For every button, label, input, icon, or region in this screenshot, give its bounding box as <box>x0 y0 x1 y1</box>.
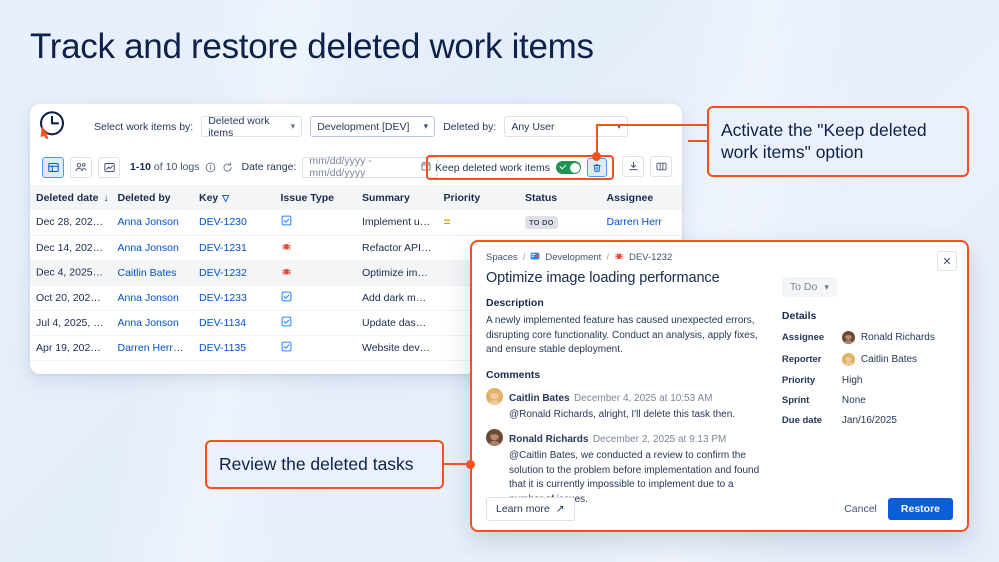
download-icon[interactable] <box>622 156 644 177</box>
detail-field: SprintNone <box>782 395 953 406</box>
col-label: Summary <box>362 192 410 204</box>
callout-review-dot <box>466 460 475 469</box>
detail-field: Due dateJan/16/2025 <box>782 415 953 426</box>
col-deleted-by[interactable]: Deleted by <box>112 185 194 210</box>
columns-icon[interactable] <box>650 156 672 177</box>
external-link-icon: ↗ <box>556 503 565 515</box>
callout-keep-dot <box>592 152 601 161</box>
col-deleted-date[interactable]: Deleted date↓ <box>30 185 112 210</box>
task-icon <box>281 318 292 330</box>
issue-detail-panel: Spaces / Development / DEV-1232 Optimize… <box>470 240 969 532</box>
cell-summary: Website developme <box>356 335 438 360</box>
callout-review-tasks: Review the deleted tasks <box>205 440 444 489</box>
bug-icon <box>614 251 624 264</box>
cell-deleted-date: Dec 4, 2025, 3:23 PM↶Restore <box>30 260 112 285</box>
comment-timestamp: December 4, 2025 at 10:53 AM <box>574 393 712 404</box>
deleted-by-value: Any User <box>511 121 554 133</box>
panel-footer: Learn more ↗ Cancel Restore <box>472 497 967 521</box>
deleted-by-value: Anna Jonson <box>118 317 179 329</box>
clock-restore-icon <box>34 108 70 144</box>
col-label: Key <box>199 192 218 204</box>
callout-keep-deleted: Activate the "Keep deleted work items" o… <box>707 106 969 177</box>
keep-deleted-group: Keep deleted work items <box>426 155 614 180</box>
deleted-by-label: Deleted by: <box>443 121 496 133</box>
deleted-date-value: Dec 4, 2025, 3:23 PM <box>36 266 112 278</box>
filters-row: Select work items by: Deleted work items… <box>30 104 682 149</box>
col-status[interactable]: Status <box>519 185 601 210</box>
date-range-placeholder: mm/dd/yyyy - mm/dd/yyyy <box>309 155 421 179</box>
filter-icon[interactable]: ▽ <box>222 193 229 203</box>
cell-priority: = <box>438 210 520 235</box>
cell-issue-type <box>275 235 357 260</box>
toolbar-row: 1-10 of 10 logs Date range: mm/dd/yyyy -… <box>30 149 682 185</box>
comment-author: Caitlin Bates <box>509 393 570 404</box>
avatar-ronald-richards <box>486 429 503 446</box>
detail-field-key: Sprint <box>782 395 842 406</box>
priority-medium-icon: = <box>444 215 450 229</box>
issue-key-link: DEV-1135 <box>199 342 246 354</box>
chevron-down-icon: ▾ <box>291 122 296 131</box>
detail-field-value: None <box>842 395 866 406</box>
cell-summary: Implement user authentic... <box>356 210 438 235</box>
cell-status: TO DO <box>519 210 601 235</box>
col-issue-type[interactable]: Issue Type <box>275 185 357 210</box>
log-count: 1-10 of 10 logs <box>130 161 199 173</box>
issue-key-link: DEV-1233 <box>199 292 247 304</box>
callout-keep-connector-h <box>688 140 707 142</box>
cell-key[interactable]: DEV-1135 <box>193 335 275 360</box>
cell-deleted-by[interactable]: Anna Jonson <box>112 210 194 235</box>
table-row[interactable]: Dec 28, 2025, 9:45 AMAnna JonsonDEV-1230… <box>30 210 682 235</box>
table-view-icon[interactable] <box>42 157 64 178</box>
page-title: Track and restore deleted work items <box>30 27 594 67</box>
work-items-type-select[interactable]: Deleted work items ▾ <box>201 116 302 137</box>
cell-deleted-by[interactable]: Anna Jonson <box>112 285 194 310</box>
deleted-date-value: Jul 4, 2025, 4:02 PM <box>36 317 112 329</box>
bug-icon <box>281 243 292 255</box>
project-icon <box>530 251 540 264</box>
close-icon[interactable]: ✕ <box>937 251 957 271</box>
comments-list: Caitlin Bates December 4, 2025 at 10:53 … <box>486 388 765 508</box>
summary-value: Refactor API integra <box>362 242 438 254</box>
cell-summary: Refactor API integra <box>356 235 438 260</box>
cell-deleted-by[interactable]: Anna Jonson <box>112 310 194 335</box>
breadcrumb-spaces[interactable]: Spaces <box>486 252 518 263</box>
detail-field-key: Priority <box>782 375 842 386</box>
cancel-button[interactable]: Cancel <box>844 503 877 515</box>
comments-heading: Comments <box>486 369 765 381</box>
date-range-input[interactable]: mm/dd/yyyy - mm/dd/yyyy <box>302 157 438 178</box>
deleted-date-value: Dec 14, 2025, 10:32 AM <box>36 242 112 254</box>
chart-view-icon[interactable] <box>98 157 120 178</box>
cell-issue-type <box>275 335 357 360</box>
col-label: Status <box>525 192 557 204</box>
cell-key[interactable]: DEV-1231 <box>193 235 275 260</box>
cell-issue-type <box>275 285 357 310</box>
cell-deleted-date: Oct 20, 2025, 4:00 PM <box>30 285 112 310</box>
cell-key[interactable]: DEV-1134 <box>193 310 275 335</box>
deleted-by-select[interactable]: Any User ▾ <box>504 116 628 137</box>
col-assignee[interactable]: Assignee <box>601 185 683 210</box>
sort-desc-arrow-icon[interactable]: ↓ <box>103 193 108 204</box>
summary-value: Add dark mode sup <box>362 292 438 304</box>
bug-icon <box>281 268 292 280</box>
col-priority[interactable]: Priority <box>438 185 520 210</box>
info-icon[interactable] <box>205 162 216 173</box>
callout-keep-connector-h2 <box>596 124 708 126</box>
restore-button[interactable]: Restore <box>888 498 953 520</box>
comment-author: Ronald Richards <box>509 434 588 445</box>
cell-assignee[interactable]: Darren Herr <box>601 210 683 235</box>
avatar-caitlin-bates <box>486 388 503 405</box>
detail-field: ReporterCaitlin Bates <box>782 353 953 366</box>
status-badge: TO DO <box>525 216 558 229</box>
detail-field-value: High <box>842 375 863 386</box>
task-icon <box>281 293 292 305</box>
summary-value: Website developme <box>362 342 438 354</box>
task-icon <box>281 343 292 355</box>
cell-deleted-date: Dec 14, 2025, 10:32 AM <box>30 235 112 260</box>
comment-item: Caitlin Bates December 4, 2025 at 10:53 … <box>486 388 765 423</box>
table-header-row: Deleted date↓ Deleted by Key▽ Issue Type… <box>30 185 682 210</box>
issue-key-link: DEV-1230 <box>199 216 247 228</box>
deleted-by-value: Darren Herrera <box>118 342 189 354</box>
cell-summary: Add dark mode sup <box>356 285 438 310</box>
learn-more-label: Learn more <box>496 503 550 515</box>
cell-deleted-date: Jul 4, 2025, 4:02 PM <box>30 310 112 335</box>
col-label: Issue Type <box>281 192 335 204</box>
cell-deleted-by[interactable]: Anna Jonson <box>112 235 194 260</box>
keep-deleted-label: Keep deleted work items <box>435 162 550 174</box>
detail-field-value: Jan/16/2025 <box>842 415 897 426</box>
details-field-list: AssigneeRonald RichardsReporterCaitlin B… <box>782 331 953 426</box>
col-label: Deleted by <box>118 192 171 204</box>
chevron-down-icon: ▾ <box>824 283 829 292</box>
work-items-type-value: Deleted work items <box>208 115 284 139</box>
cell-key[interactable]: DEV-1232 <box>193 260 275 285</box>
log-count-total: of 10 logs <box>151 161 199 173</box>
cell-summary: Update dashboard a <box>356 310 438 335</box>
learn-more-button[interactable]: Learn more ↗ <box>486 497 575 521</box>
deleted-by-value: Anna Jonson <box>118 216 179 228</box>
deleted-by-value: Anna Jonson <box>118 242 179 254</box>
cell-issue-type <box>275 260 357 285</box>
select-work-items-label: Select work items by: <box>94 121 193 133</box>
project-select[interactable]: Development [DEV] ▾ <box>310 116 435 137</box>
breadcrumb-separator: / <box>606 252 609 263</box>
project-value: Development [DEV] <box>317 121 409 133</box>
comment-text: @Ronald Richards, alright, I'll delete t… <box>509 408 765 423</box>
breadcrumb: Spaces / Development / DEV-1232 <box>486 251 765 264</box>
detail-field-value: Caitlin Bates <box>842 353 917 366</box>
col-label: Deleted date <box>36 192 98 204</box>
summary-value: Update dashboard a <box>362 317 438 329</box>
breadcrumb-project[interactable]: Development <box>545 252 601 263</box>
deleted-date-value: Apr 19, 2025, 10:32 AM <box>36 342 112 354</box>
description-heading: Description <box>486 297 765 309</box>
date-range-label: Date range: <box>241 161 296 173</box>
deleted-date-value: Dec 28, 2025, 9:45 AM <box>36 216 112 228</box>
task-icon <box>281 217 292 229</box>
keep-deleted-toggle[interactable] <box>556 161 581 174</box>
cell-deleted-by[interactable]: Caitlin Bates <box>112 260 194 285</box>
cell-deleted-by[interactable]: Darren Herrera <box>112 335 194 360</box>
status-value: To Do <box>790 281 817 293</box>
issue-key-link: DEV-1232 <box>199 267 247 279</box>
issue-title: Optimize image loading performance <box>486 270 765 286</box>
issue-key-link: DEV-1231 <box>199 242 247 254</box>
deleted-by-value: Anna Jonson <box>118 292 179 304</box>
deleted-by-value: Caitlin Bates <box>118 267 177 279</box>
col-label: Assignee <box>607 192 654 204</box>
col-label: Priority <box>444 192 481 204</box>
details-heading: Details <box>782 310 953 322</box>
cell-deleted-date: Apr 19, 2025, 10:32 AM <box>30 335 112 360</box>
detail-field-value: Ronald Richards <box>842 331 935 344</box>
detail-field-key: Due date <box>782 415 842 426</box>
cell-key[interactable]: DEV-1233 <box>193 285 275 310</box>
refresh-icon[interactable] <box>222 162 233 173</box>
cell-issue-type <box>275 310 357 335</box>
avatar-caitlin-bates <box>842 353 855 366</box>
detail-field-key: Reporter <box>782 354 842 365</box>
summary-value: Optimize image loa <box>362 267 438 279</box>
issue-key-link: DEV-1134 <box>199 317 246 329</box>
cell-summary: Optimize image loa <box>356 260 438 285</box>
people-view-icon[interactable] <box>70 157 92 178</box>
detail-field: AssigneeRonald Richards <box>782 331 953 344</box>
cell-issue-type <box>275 210 357 235</box>
status-select[interactable]: To Do ▾ <box>782 277 837 297</box>
detail-field: PriorityHigh <box>782 375 953 386</box>
col-key[interactable]: Key▽ <box>193 185 275 210</box>
assignee-value: Darren Herr <box>607 216 662 228</box>
avatar-ronald-richards <box>842 331 855 344</box>
col-summary[interactable]: Summary <box>356 185 438 210</box>
breadcrumb-separator: / <box>523 252 526 263</box>
toolbar-right-icons <box>622 156 672 177</box>
cell-key[interactable]: DEV-1230 <box>193 210 275 235</box>
log-count-range: 1-10 <box>130 161 151 173</box>
chevron-down-icon: ▾ <box>424 122 429 131</box>
description-text: A newly implemented feature has caused u… <box>486 314 765 358</box>
deleted-date-value: Oct 20, 2025, 4:00 PM <box>36 292 112 304</box>
cell-deleted-date: Dec 28, 2025, 9:45 AM <box>30 210 112 235</box>
comment-timestamp: December 2, 2025 at 9:13 PM <box>593 434 726 445</box>
comment-item: Ronald Richards December 2, 2025 at 9:13… <box>486 429 765 507</box>
summary-value: Implement user authentic... <box>362 216 438 228</box>
detail-field-key: Assignee <box>782 332 842 343</box>
breadcrumb-issue-key[interactable]: DEV-1232 <box>629 252 672 263</box>
